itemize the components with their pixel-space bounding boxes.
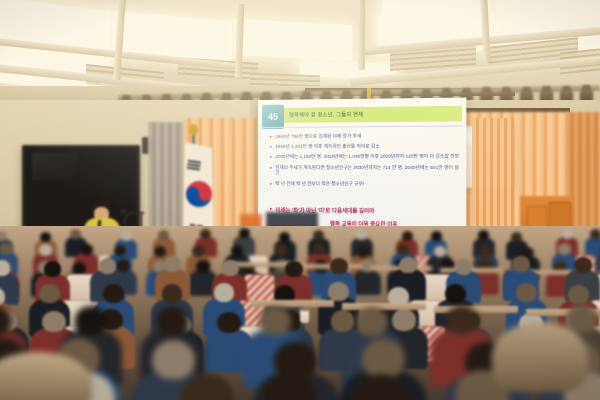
- audience-head: [103, 284, 124, 303]
- coffee-cup: [300, 310, 309, 323]
- audience-head: [275, 244, 288, 255]
- audience-head: [328, 282, 349, 301]
- audience-head: [164, 256, 182, 272]
- audience-head: [590, 229, 600, 239]
- audience-head: [152, 340, 195, 379]
- conference-hall-photo: 미래 45 행복해야 할 청소년, 그들의 현재 ▸1960년 796만 명으로…: [0, 0, 600, 400]
- audience-head: [156, 306, 188, 335]
- audience-head: [402, 231, 413, 241]
- bullet-text: 현재의 추세가 계속된다면 청소년인구는 2030년까지는 714 만 명, 2…: [275, 165, 460, 177]
- audience-head: [399, 257, 417, 273]
- audience-head: [479, 246, 492, 257]
- audience-head: [279, 232, 290, 242]
- audience-head: [200, 229, 211, 239]
- audience-head: [455, 259, 473, 275]
- audience-head: [330, 258, 348, 274]
- slide-bullet-list: ▸1960년 796만 명으로 집계된 이래 증가 추세▸1980년 1,401…: [270, 133, 460, 192]
- flag-finial: [189, 124, 198, 135]
- audience-head: [446, 305, 478, 334]
- audience-head: [39, 284, 60, 303]
- audience-head: [40, 232, 51, 242]
- slide-title-bar: 행복해야 할 청소년, 그들의 현재: [284, 106, 462, 123]
- audience-head: [192, 245, 205, 256]
- audience-head: [75, 306, 107, 335]
- bullet-marker: ▸: [270, 181, 272, 187]
- audience-head: [313, 230, 324, 240]
- audience-head: [158, 230, 169, 240]
- slide-number-badge: 45: [262, 105, 284, 129]
- audience-head: [116, 259, 130, 272]
- bullet-marker: ▸: [270, 144, 272, 150]
- slide-title: 행복해야 할 청소년, 그들의 현재: [284, 111, 363, 119]
- audience-head: [431, 231, 442, 241]
- slide-bullet: ▸1980년 1,401만 명 이후 계속적인 출산율 저하로 감소: [270, 143, 460, 150]
- bullet-marker: ▸: [270, 165, 272, 176]
- audience-head: [162, 284, 183, 303]
- slide-bullet: ▸현재의 추세가 계속된다면 청소년인구는 2030년까지는 714 만 명, …: [270, 165, 460, 177]
- audience-head: [99, 258, 117, 274]
- audience-head: [357, 246, 370, 257]
- audience-head: [221, 260, 239, 276]
- bullet-text: 1960년 796만 명으로 집계된 이래 증가 추세: [275, 133, 361, 139]
- slide-bullet: ▸1960년 796만 명으로 집계된 이래 증가 추세: [270, 133, 460, 140]
- audience-head: [44, 261, 62, 277]
- audience-shoulders: [353, 270, 381, 296]
- bullet-marker: ▸: [270, 154, 272, 160]
- audience-desk: [230, 262, 292, 267]
- audience-head: [72, 262, 86, 275]
- audience-shoulders: [585, 237, 600, 257]
- audience-area: [0, 226, 600, 400]
- audience-head: [516, 283, 537, 302]
- bullet-text: 2000년에는 1,150만 명, 2016년에는 1,046만명 이후 202…: [275, 154, 459, 160]
- handheld-microphone: [120, 209, 127, 214]
- fur-trimmed-hood: [492, 322, 588, 392]
- audience-head: [259, 306, 291, 335]
- audience-head: [331, 310, 355, 332]
- audience-head: [39, 244, 52, 255]
- audience-head: [356, 307, 388, 336]
- audience-head: [114, 245, 127, 256]
- audience-head: [558, 243, 571, 254]
- audience-head: [239, 228, 250, 238]
- slide-divider: [262, 126, 462, 128]
- audience-head: [81, 244, 94, 255]
- slide-bullet: ▸2000년에는 1,150만 명, 2016년에는 1,046만명 이후 20…: [270, 154, 460, 160]
- audience-head: [285, 261, 303, 277]
- audience-head: [217, 312, 241, 334]
- audience-head: [512, 256, 530, 272]
- bullet-text: 백 년 전에 백 년 전보다 적은 청소년인구 규모!: [275, 181, 364, 187]
- slide-bullet: ▸백 년 전에 백 년 전보다 적은 청소년인구 규모!: [270, 181, 460, 187]
- bullet-marker: ▸: [270, 134, 272, 140]
- bullet-text: 1980년 1,401만 명 이후 계속적인 출산율 저하로 감소: [275, 144, 380, 150]
- audience-head: [0, 243, 12, 254]
- audience-head: [356, 230, 367, 240]
- audience-head: [434, 246, 447, 257]
- audience-head: [392, 309, 416, 331]
- audience-head: [511, 232, 522, 242]
- audience-head: [70, 229, 81, 239]
- audience-desk: [250, 300, 334, 307]
- audience-head: [574, 257, 592, 273]
- audience-head: [214, 283, 235, 302]
- audience-head: [362, 339, 405, 378]
- audience-head: [196, 260, 210, 273]
- audience-head: [313, 243, 326, 254]
- audience-head: [562, 229, 573, 239]
- audience-head: [42, 311, 66, 333]
- audience-head: [568, 285, 589, 304]
- audience-desk: [342, 303, 426, 310]
- audience-head: [445, 284, 466, 303]
- audience-head: [121, 231, 132, 241]
